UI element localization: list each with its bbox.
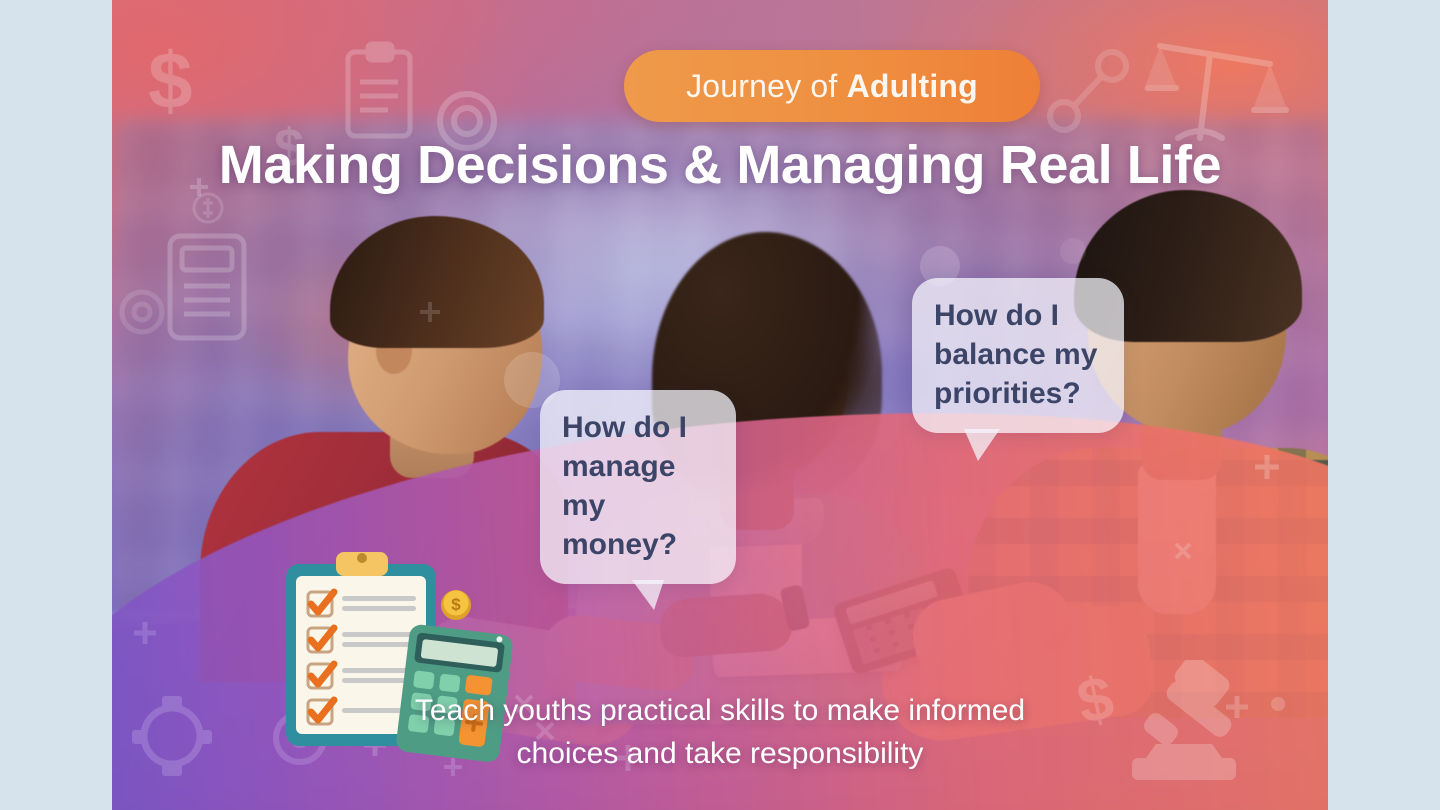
clipboard-icon [342,40,428,144]
plus-icon [1224,694,1250,720]
letterbox-bar-left [0,0,112,810]
bokeh-dot [1060,238,1086,264]
link-nodes-icon [1042,44,1138,140]
gavel-icon [1122,660,1282,790]
hair [330,216,544,348]
speech-bubble-money-line1: How do I [562,408,714,447]
speech-bubble-priorities-line3: priorities? [934,374,1102,413]
badge-emphasis: Adulting [847,68,978,104]
cross-icon [1172,540,1194,562]
gear-icon [130,694,214,778]
svg-text:$: $ [148,38,193,124]
gear-icon [112,282,172,342]
speech-bubble-tail [964,429,1000,461]
poster-canvas: $ $ [112,0,1328,810]
page-title: Making Decisions & Managing Real Life [112,134,1328,196]
speech-bubble-priorities-line2: balance my [934,335,1102,374]
caption-line2: choices and take responsibility [412,733,1028,776]
speech-bubble-tail [632,580,664,610]
dollar-sign-icon: $ [1076,666,1124,732]
badge-prefix: Journey of [686,68,847,104]
plus-icon [418,300,442,324]
circle-icon [1270,696,1286,712]
caption: Teach youths practical skills to make in… [412,690,1028,775]
dollar-sign-icon: $ [144,38,206,124]
svg-text:$: $ [451,595,461,614]
plus-icon [1252,452,1282,482]
speech-bubble-money: How do I manage my money? [540,390,736,584]
badge-journey-of-adulting: Journey of Adulting [624,50,1040,122]
speech-bubble-priorities-line1: How do I [934,296,1102,335]
calculator-icon [162,228,258,346]
badge-label: Journey of Adulting [686,68,978,105]
coin-illustration: $ [441,590,471,620]
plus-icon [132,620,158,646]
poster-stage: $ $ [0,0,1440,810]
caption-line1: Teach youths practical skills to make in… [412,690,1028,733]
speech-bubble-money-line2: manage my [562,447,714,525]
svg-text:$: $ [1076,666,1119,732]
speech-bubble-priorities: How do I balance my priorities? [912,278,1124,433]
speech-bubble-money-line3: money? [562,525,714,564]
letterbox-bar-right [1328,0,1440,810]
